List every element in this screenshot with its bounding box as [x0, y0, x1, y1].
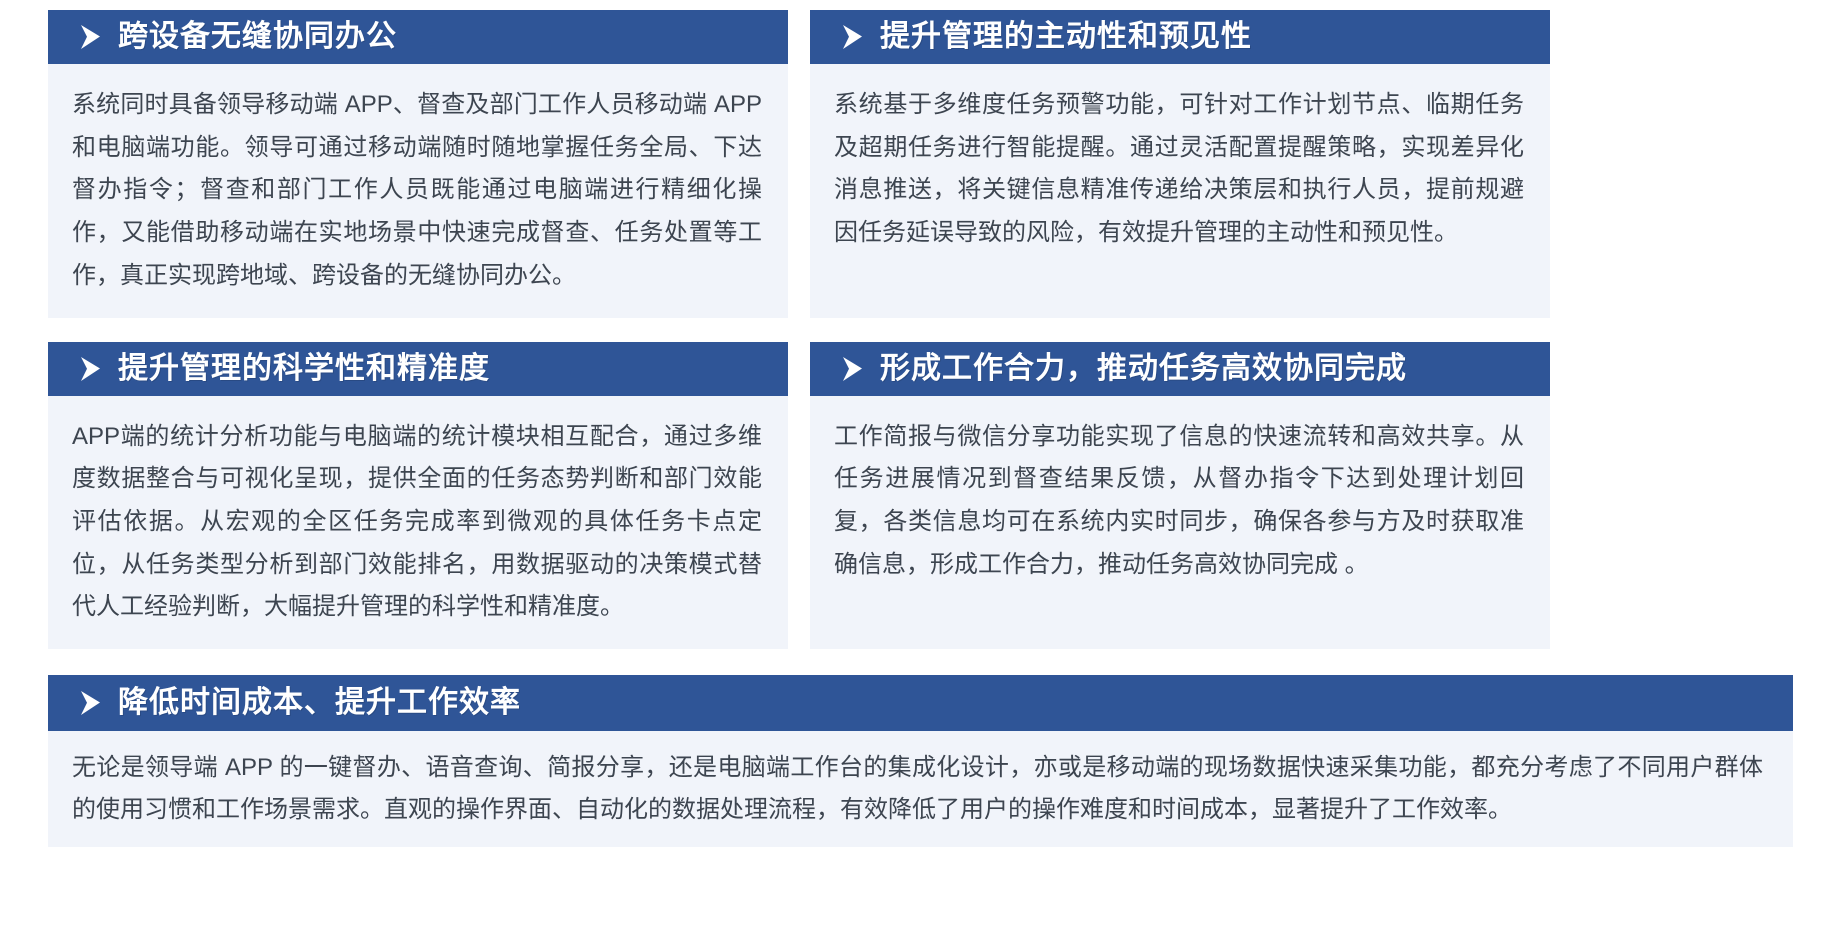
chevron-right-icon — [78, 354, 104, 384]
row-spacer — [48, 649, 1793, 675]
card-title: 形成工作合力，推动任务高效协同完成 — [880, 351, 1407, 387]
advantage-card-time-cost-efficiency: 降低时间成本、提升工作效率 无论是领导端 APP 的一键督办、语音查询、简报分享… — [48, 675, 1793, 847]
card-header: 提升管理的主动性和预见性 — [810, 10, 1550, 64]
card-header: 形成工作合力，推动任务高效协同完成 — [810, 342, 1550, 396]
card-header: 跨设备无缝协同办公 — [48, 10, 788, 64]
card-header: 提升管理的科学性和精准度 — [48, 342, 788, 396]
row-spacer — [48, 318, 1793, 342]
card-body-text: 工作简报与微信分享功能实现了信息的快速流转和高效共享。从任务进展情况到督查结果反… — [810, 396, 1550, 650]
advantage-card-proactive-management: 提升管理的主动性和预见性 系统基于多维度任务预警功能，可针对工作计划节点、临期任… — [810, 10, 1550, 318]
card-body-text: APP端的统计分析功能与电脑端的统计模块相互配合，通过多维度数据整合与可视化呈现… — [48, 396, 788, 650]
card-title: 跨设备无缝协同办公 — [118, 19, 397, 55]
chevron-right-icon — [840, 22, 866, 52]
chevron-right-icon — [78, 22, 104, 52]
card-title: 降低时间成本、提升工作效率 — [118, 685, 521, 721]
card-title: 提升管理的主动性和预见性 — [880, 19, 1252, 55]
advantage-card-cross-device: 跨设备无缝协同办公 系统同时具备领导移动端 APP、督查及部门工作人员移动端 A… — [48, 10, 788, 318]
chevron-right-icon — [78, 688, 104, 718]
advantage-card-work-synergy: 形成工作合力，推动任务高效协同完成 工作简报与微信分享功能实现了信息的快速流转和… — [810, 342, 1550, 650]
advantage-card-grid: 跨设备无缝协同办公 系统同时具备领导移动端 APP、督查及部门工作人员移动端 A… — [48, 10, 1793, 847]
card-title: 提升管理的科学性和精准度 — [118, 351, 490, 387]
card-body-text: 系统基于多维度任务预警功能，可针对工作计划节点、临期任务及超期任务进行智能提醒。… — [810, 64, 1550, 318]
chevron-right-icon — [840, 354, 866, 384]
card-header: 降低时间成本、提升工作效率 — [48, 675, 1793, 731]
advantages-page: 跨设备无缝协同办公 系统同时具备领导移动端 APP、督查及部门工作人员移动端 A… — [0, 0, 1841, 950]
card-body-text: 系统同时具备领导移动端 APP、督查及部门工作人员移动端 APP 和电脑端功能。… — [48, 64, 788, 318]
card-body-text: 无论是领导端 APP 的一键督办、语音查询、简报分享，还是电脑端工作台的集成化设… — [48, 731, 1793, 847]
advantage-card-scientific-management: 提升管理的科学性和精准度 APP端的统计分析功能与电脑端的统计模块相互配合，通过… — [48, 342, 788, 650]
